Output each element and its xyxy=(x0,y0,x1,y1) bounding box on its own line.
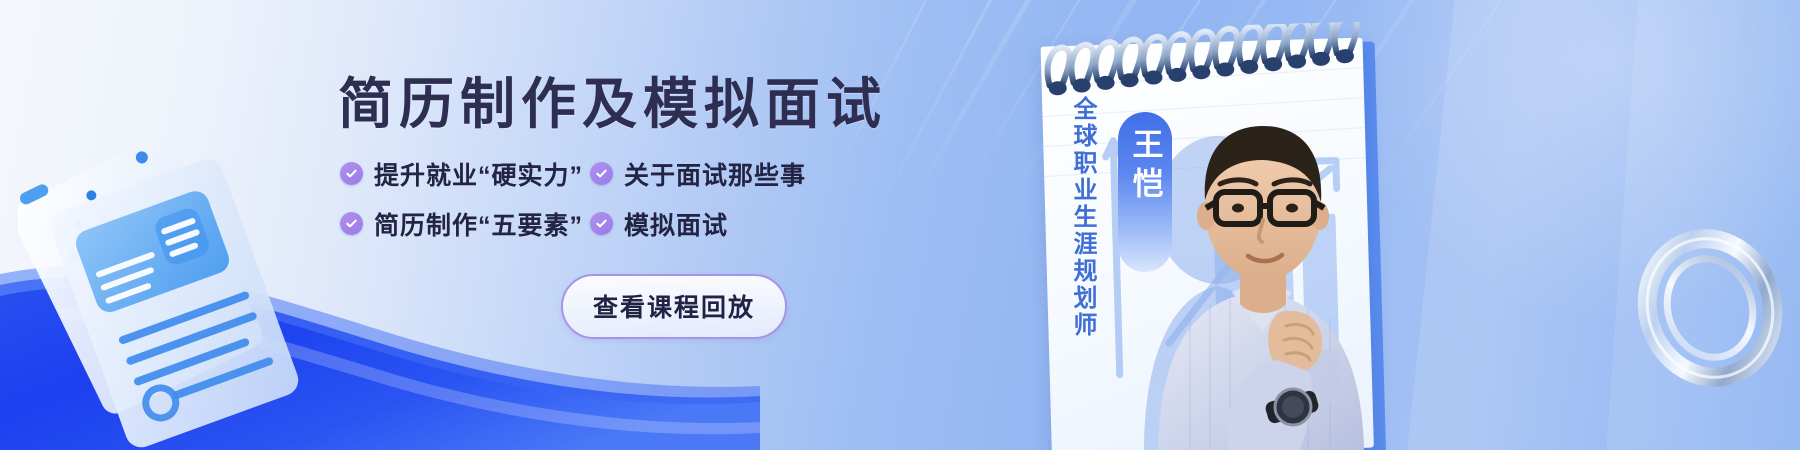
speaker-name-badge: 王恺 xyxy=(1118,112,1172,272)
feature-row: 提升就业“硬实力” 关于面试那些事 xyxy=(340,156,956,192)
speaker-name: 王恺 xyxy=(1130,128,1161,206)
feature-item: 简历制作“五要素” xyxy=(340,206,590,242)
banner-content: 简历制作及模拟面试 提升就业“硬实力” 关于面试那些事 xyxy=(336,76,956,339)
cta-container: 查看课程回放 xyxy=(561,274,956,339)
speaker-credential: 全球职业生涯规划师 xyxy=(1065,96,1095,339)
feature-label: 提升就业“硬实力” xyxy=(374,156,583,192)
check-circle-icon xyxy=(340,212,363,235)
feature-list: 提升就业“硬实力” 关于面试那些事 简历制作“五要素” xyxy=(340,156,956,242)
feature-label: 关于面试那些事 xyxy=(624,156,806,192)
page-title: 简历制作及模拟面试 xyxy=(338,76,956,134)
background-panel-shape xyxy=(1397,0,1653,450)
feature-label: 模拟面试 xyxy=(624,206,728,242)
check-circle-icon xyxy=(590,212,613,235)
feature-item: 关于面试那些事 xyxy=(590,156,840,192)
feature-label: 简历制作“五要素” xyxy=(374,206,583,242)
view-course-replay-button[interactable]: 查看课程回放 xyxy=(561,274,787,339)
chrome-ring-decoration xyxy=(1630,228,1790,388)
check-circle-icon xyxy=(340,162,363,185)
feature-row: 简历制作“五要素” 模拟面试 xyxy=(340,206,956,242)
feature-item: 提升就业“硬实力” xyxy=(340,156,590,192)
background-panel-shape xyxy=(1597,0,1800,450)
course-promo-banner: 简历制作及模拟面试 提升就业“硬实力” 关于面试那些事 xyxy=(0,0,1800,450)
check-circle-icon xyxy=(590,162,613,185)
feature-item: 模拟面试 xyxy=(590,206,840,242)
resume-documents-illustration xyxy=(18,150,338,450)
